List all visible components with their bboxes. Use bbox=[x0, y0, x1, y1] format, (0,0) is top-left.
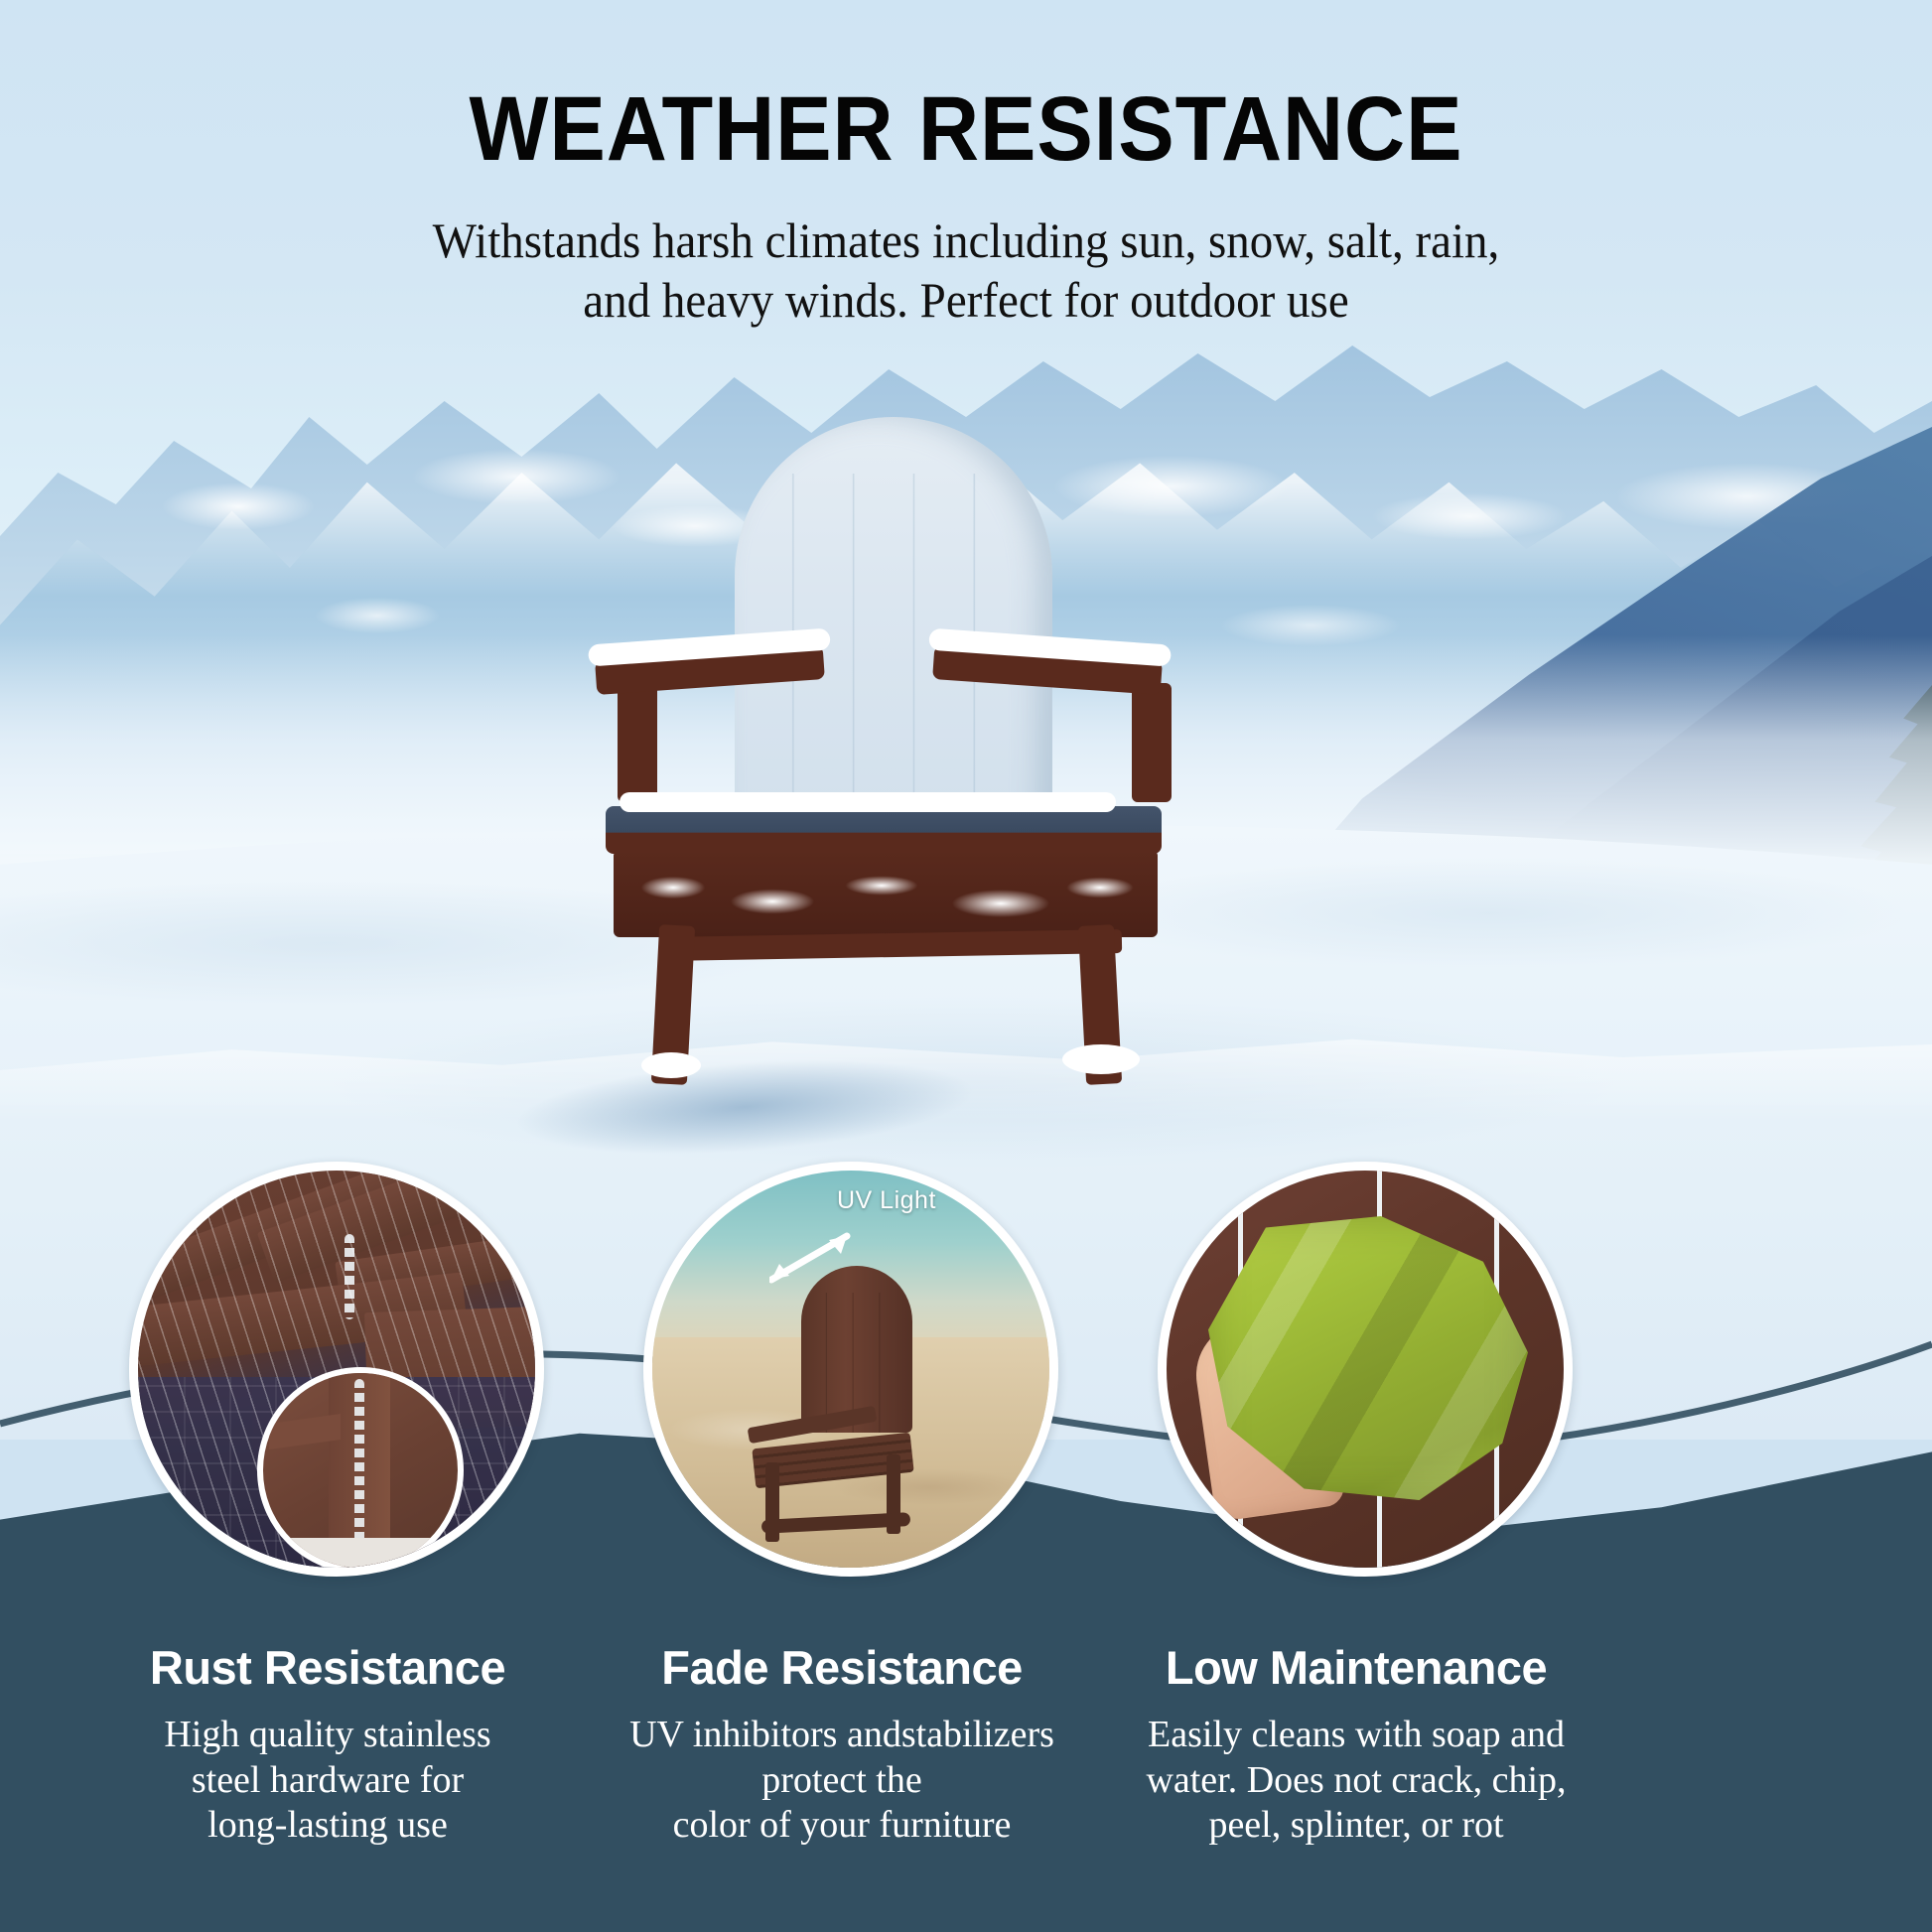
feature-fade-resistance: Fade Resistance UV inhibitors andstabili… bbox=[601, 1640, 1083, 1849]
cleaning-scene bbox=[1167, 1171, 1564, 1568]
feature-low-maintenance: Low Maintenance Easily cleans with soap … bbox=[1115, 1640, 1597, 1849]
snow-chunk bbox=[1062, 1044, 1140, 1074]
beach-scene: UV Light bbox=[652, 1171, 1049, 1568]
feature-rust-resistance: Rust Resistance High quality stainless s… bbox=[86, 1640, 569, 1849]
feature-title: Low Maintenance bbox=[1115, 1640, 1597, 1695]
page-title: WEATHER RESISTANCE bbox=[77, 77, 1855, 182]
feature-description: Easily cleans with soap and water. Does … bbox=[1115, 1713, 1597, 1849]
chair-arm-support-left bbox=[618, 683, 657, 802]
feature-desc-line-3: color of your furniture bbox=[601, 1803, 1083, 1849]
feature-title: Rust Resistance bbox=[86, 1640, 569, 1695]
feature-desc-line-1: UV inhibitors andstabilizers bbox=[601, 1713, 1083, 1758]
uv-light-label: UV Light bbox=[837, 1186, 936, 1215]
feature-desc-line-3: peel, splinter, or rot bbox=[1115, 1803, 1597, 1849]
beach-adirondack-chair bbox=[748, 1266, 956, 1534]
feature-text-row: Rust Resistance High quality stainless s… bbox=[0, 1640, 1932, 1898]
feature-desc-line-2: water. Does not crack, chip, bbox=[1115, 1758, 1597, 1804]
feature-desc-line-1: High quality stainless bbox=[86, 1713, 569, 1758]
weather-resistance-infographic: WEATHER RESISTANCE Withstands harsh clim… bbox=[0, 0, 1932, 1932]
feature-image-low-maintenance[interactable] bbox=[1158, 1162, 1573, 1577]
subtitle-line-1: Withstands harsh climates including sun,… bbox=[58, 210, 1873, 270]
hero-snow-covered-chair bbox=[596, 417, 1211, 1092]
page-subtitle: Withstands harsh climates including sun,… bbox=[58, 210, 1873, 330]
feature-desc-line-2: steel hardware for bbox=[86, 1758, 569, 1804]
hardware-closeup-inset bbox=[257, 1367, 464, 1574]
feature-image-rust-resistance[interactable] bbox=[129, 1162, 544, 1577]
chair-front-apron bbox=[614, 850, 1158, 937]
feature-title: Fade Resistance bbox=[601, 1640, 1083, 1695]
chair-seat bbox=[606, 806, 1162, 854]
feature-image-fade-resistance[interactable]: UV Light bbox=[643, 1162, 1058, 1577]
feature-desc-line-2: protect the bbox=[601, 1758, 1083, 1804]
feature-desc-line-3: long-lasting use bbox=[86, 1803, 569, 1849]
subtitle-line-2: and heavy winds. Perfect for outdoor use bbox=[58, 270, 1873, 330]
feature-description: UV inhibitors andstabilizers protect the… bbox=[601, 1713, 1083, 1849]
uv-light-arrow-icon bbox=[769, 1224, 889, 1298]
chair-arm-support-right bbox=[1132, 683, 1172, 802]
feature-desc-line-1: Easily cleans with soap and bbox=[1115, 1713, 1597, 1758]
chair-backrest bbox=[735, 417, 1052, 824]
rain-scene bbox=[138, 1171, 535, 1568]
feature-image-row: UV Light bbox=[0, 1152, 1932, 1628]
snow-chunk bbox=[641, 1052, 701, 1078]
feature-description: High quality stainless steel hardware fo… bbox=[86, 1713, 569, 1849]
